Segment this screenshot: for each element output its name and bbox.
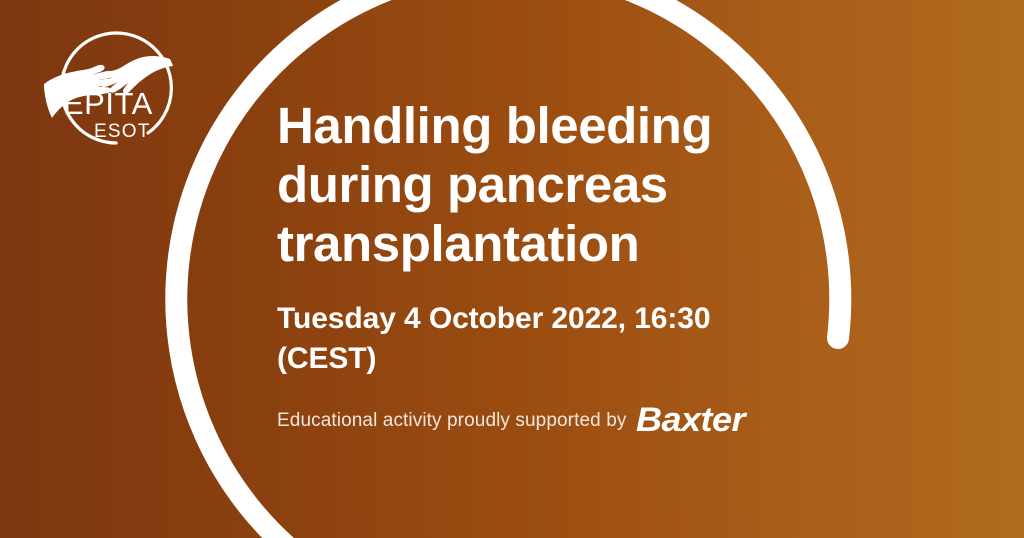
logo-primary-text: EPITA (63, 88, 193, 119)
sponsor-line: Educational activity proudly supported b… (277, 379, 897, 440)
webinar-banner: EPITA ESOT Handling bleeding during panc… (0, 0, 1024, 538)
baxter-logo: Baxter (636, 401, 745, 440)
sponsor-prefix-text: Educational activity proudly supported b… (277, 410, 626, 432)
banner-title: Handling bleeding during pancreas transp… (277, 96, 777, 273)
epita-esot-logo: EPITA ESOT (30, 26, 190, 151)
banner-datetime: Tuesday 4 October 2022, 16:30 (CEST) (277, 273, 747, 379)
logo-secondary-text: ESOT (94, 122, 193, 141)
banner-content: Handling bleeding during pancreas transp… (277, 96, 897, 440)
